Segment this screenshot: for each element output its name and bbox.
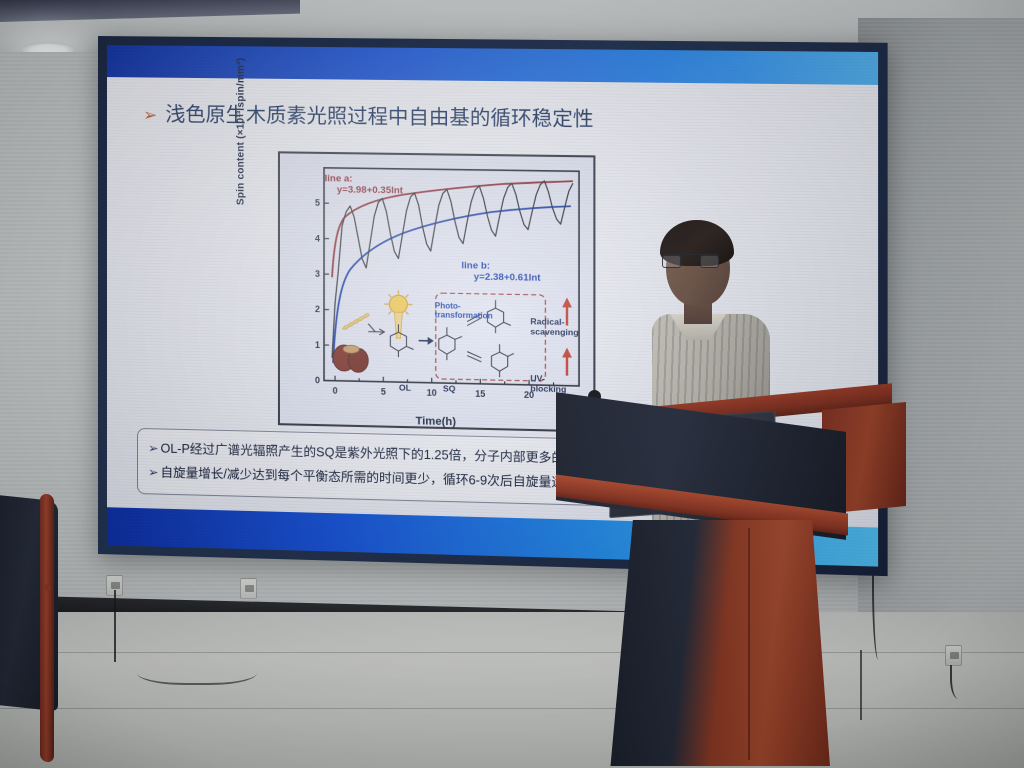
wall-outlet[interactable] bbox=[240, 578, 257, 599]
eyeglasses-left-lens bbox=[662, 255, 681, 268]
ol-molecule-icon bbox=[390, 324, 413, 357]
svg-text:0: 0 bbox=[315, 375, 320, 385]
y-tick-labels: 0 1 2 3 4 5 bbox=[315, 198, 320, 385]
slide-title: ➢浅色原生木质素光照过程中自由基的循环稳定性 bbox=[143, 97, 594, 131]
line-b-annotation: line b: y=2.38+0.61lnt bbox=[461, 261, 540, 285]
power-cable-floor-run bbox=[137, 655, 257, 685]
eyeglasses-right-lens bbox=[700, 255, 719, 268]
x-tick-labels: 0 5 10 15 20 bbox=[333, 386, 535, 401]
up-arrow-icon-2 bbox=[562, 347, 572, 375]
ol-label: OL bbox=[399, 383, 411, 393]
eyeglasses-icon bbox=[662, 254, 720, 267]
chart-y-axis-label: Spin content (×10¹³ spin/mm³) bbox=[236, 45, 247, 205]
chair-stud bbox=[44, 584, 51, 591]
svg-text:2: 2 bbox=[315, 304, 320, 314]
wall-outlet[interactable] bbox=[945, 645, 962, 666]
sq-molecule-icon bbox=[439, 327, 462, 360]
wheat-icon bbox=[342, 312, 370, 330]
lectern-groove bbox=[748, 528, 750, 760]
reaction-arrow-icon-2 bbox=[419, 337, 434, 345]
sq-label: SQ bbox=[443, 384, 456, 394]
photo-transformation-annotation: Photo-transformation bbox=[435, 301, 493, 321]
chair-frame bbox=[40, 493, 54, 762]
photo-scene: ➢浅色原生木质素光照过程中自由基的循环稳定性 bbox=[0, 0, 1024, 768]
svg-text:3: 3 bbox=[315, 269, 320, 279]
bullet-marker-icon: ➢ bbox=[143, 106, 157, 125]
lectern-column bbox=[606, 520, 830, 766]
series-line-b bbox=[333, 203, 571, 368]
figure-chart: 0 1 2 3 4 5 bbox=[278, 151, 595, 432]
svg-text:10: 10 bbox=[427, 388, 437, 398]
reaction-arrow-icon bbox=[368, 324, 384, 335]
svg-text:5: 5 bbox=[381, 387, 386, 397]
quinone-molecule-icon bbox=[491, 344, 513, 377]
svg-text:1: 1 bbox=[315, 340, 320, 350]
line-a-annotation: line a: y=3.98+0.35lnt bbox=[325, 174, 403, 197]
svg-text:15: 15 bbox=[475, 389, 485, 399]
svg-text:4: 4 bbox=[315, 233, 320, 243]
equilibrium-arrows-icon bbox=[467, 314, 481, 362]
slide-title-text: 浅色原生木质素光照过程中自由基的循环稳定性 bbox=[165, 104, 593, 131]
uv-blocking-annotation: UV-blocking bbox=[530, 374, 566, 395]
svg-text:0: 0 bbox=[333, 386, 338, 396]
radical-scavenging-annotation: Radical-scavenging bbox=[530, 317, 578, 338]
bullet-marker-icon: ➢ bbox=[148, 441, 159, 455]
slide-header-band bbox=[107, 45, 878, 85]
audience-chair[interactable] bbox=[0, 498, 70, 768]
lectern bbox=[556, 398, 906, 768]
svg-text:5: 5 bbox=[315, 198, 320, 208]
bullet-marker-icon: ➢ bbox=[148, 465, 159, 479]
outlet-cable bbox=[950, 665, 964, 699]
wood-logs-icon bbox=[333, 345, 368, 373]
